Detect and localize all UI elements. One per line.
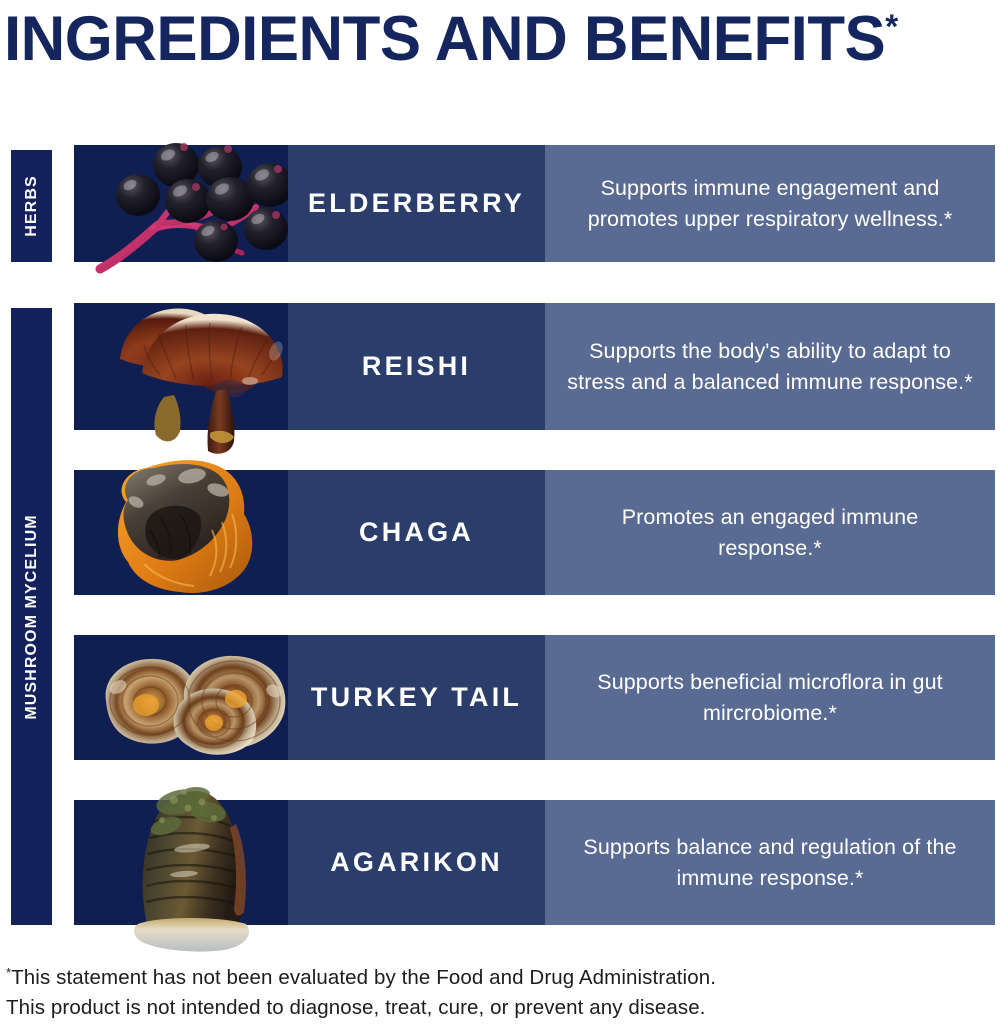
ingredient-description-panel: Supports the body's ability to adapt to … <box>545 303 995 430</box>
ingredient-description: Supports beneficial microflora in gut mi… <box>567 667 973 729</box>
ingredient-name: ELDERBERRY <box>308 188 525 219</box>
page-title: INGREDIENTS AND BENEFITS* <box>4 0 977 60</box>
ingredient-description-panel: Supports balance and regulation of the i… <box>545 800 995 925</box>
ingredient-image-panel <box>74 635 288 760</box>
ingredient-description-panel: Supports beneficial microflora in gut mi… <box>545 635 995 760</box>
ingredient-description-panel: Promotes an engaged immune response.* <box>545 470 995 595</box>
ingredient-name-panel: REISHI <box>288 303 545 430</box>
ingredient-name-panel: CHAGA <box>288 470 545 595</box>
footnote-disclaimer: *This statement has not been evaluated b… <box>6 958 866 1023</box>
ingredient-name: TURKEY TAIL <box>311 682 522 713</box>
ingredient-description: Supports the body's ability to adapt to … <box>567 336 973 398</box>
ingredient-name-panel: ELDERBERRY <box>288 145 545 262</box>
ingredient-image-panel <box>74 145 288 262</box>
ingredient-row: TURKEY TAIL Supports beneficial microflo… <box>74 635 995 760</box>
ingredient-description: Supports balance and regulation of the i… <box>567 832 973 894</box>
ingredient-description: Supports immune engagement and promotes … <box>567 173 973 235</box>
reishi-photo <box>74 303 288 430</box>
category-label-herbs: HERBS <box>11 150 52 262</box>
category-label-mushroom-mycelium-text: MUSHROOM MYCELIUM <box>23 514 41 719</box>
ingredient-name: REISHI <box>362 351 471 382</box>
elderberry-photo <box>74 145 288 262</box>
page-title-text: INGREDIENTS AND BENEFITS <box>4 4 885 74</box>
ingredient-row: AGARIKON Supports balance and regulation… <box>74 800 995 925</box>
turkey-tail-photo <box>74 635 288 760</box>
ingredient-name-panel: TURKEY TAIL <box>288 635 545 760</box>
ingredient-name: AGARIKON <box>330 847 503 878</box>
ingredient-row: ELDERBERRY Supports immune engagement an… <box>74 145 995 262</box>
footnote-line-1-text: This statement has not been evaluated by… <box>11 966 716 989</box>
ingredient-image-panel <box>74 470 288 595</box>
category-label-mushroom-mycelium: MUSHROOM MYCELIUM <box>11 308 52 925</box>
ingredient-name-panel: AGARIKON <box>288 800 545 925</box>
ingredient-image-panel <box>74 303 288 430</box>
chaga-photo <box>74 470 288 595</box>
footnote-line-1: *This statement has not been evaluated b… <box>6 958 866 993</box>
footnote-line-2: This product is not intended to diagnose… <box>6 993 866 1023</box>
ingredient-description-panel: Supports immune engagement and promotes … <box>545 145 995 262</box>
ingredient-image-panel <box>74 800 288 925</box>
ingredient-description: Promotes an engaged immune response.* <box>567 502 973 564</box>
ingredient-row: REISHI Supports the body's ability to ad… <box>74 303 995 430</box>
category-label-herbs-text: HERBS <box>23 175 41 237</box>
agarikon-photo <box>74 800 288 925</box>
page-title-asterisk: * <box>885 8 898 46</box>
ingredient-row: CHAGA Promotes an engaged immune respons… <box>74 470 995 595</box>
ingredient-name: CHAGA <box>359 517 474 548</box>
